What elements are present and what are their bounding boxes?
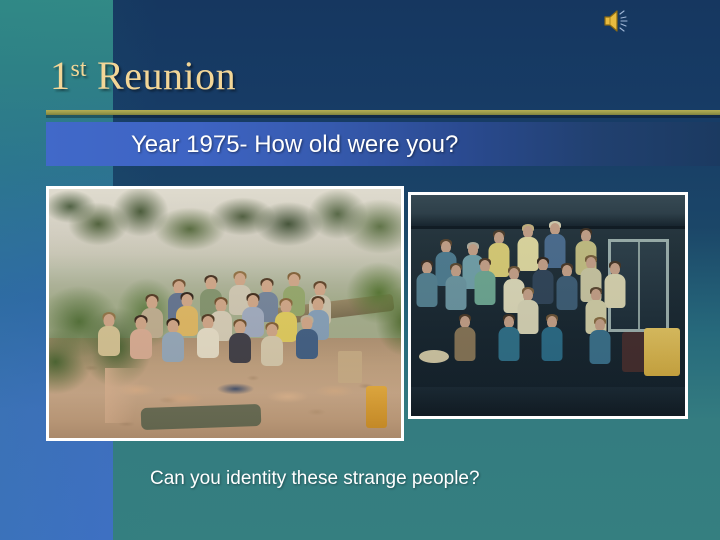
slide-caption: Can you identity these strange people? [150, 468, 480, 490]
slide-title: 1st Reunion [50, 52, 236, 99]
group-photo-outdoors-1975[interactable] [46, 186, 404, 441]
slide-title-word: Reunion [87, 53, 237, 98]
photo-left-color-cast [49, 189, 401, 438]
presentation-slide: 1st Reunion Year 1975- How old were you? [0, 0, 720, 540]
photo-right-content [411, 195, 685, 416]
title-divider-shadow [46, 115, 720, 118]
slide-title-ordinal: st [71, 56, 87, 82]
slide-title-number: 1 [50, 53, 71, 98]
subtitle-text: Year 1975- How old were you? [131, 131, 458, 159]
group-photo-cabin-1975[interactable] [408, 192, 688, 419]
speaker-icon[interactable] [601, 8, 637, 34]
photo-right-color-cast [411, 195, 685, 416]
photo-left-content [49, 189, 401, 438]
